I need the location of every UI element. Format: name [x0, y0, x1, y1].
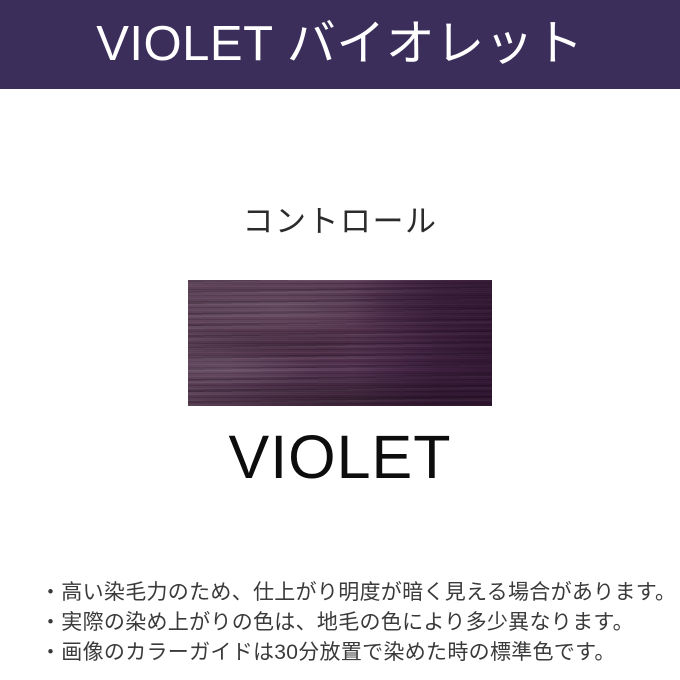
note-line: ・実際の染め上がりの色は、地毛の色により多少異なります。: [40, 608, 652, 638]
note-line: ・高い染毛力のため、仕上がり明度が暗く見える場合があります。: [40, 578, 652, 608]
product-name: VIOLET: [0, 425, 680, 489]
swatch-right-tint-layer: [352, 280, 492, 406]
violet-hair-color-swatch: [188, 280, 492, 406]
section-label-control: コントロール: [0, 205, 680, 239]
header-banner: VIOLET バイオレット: [0, 0, 680, 89]
footer-notes: ・高い染毛力のため、仕上がり明度が暗く見える場合があります。 ・実際の染め上がり…: [40, 578, 652, 668]
page-title: VIOLET バイオレット: [96, 20, 584, 69]
product-color-guide-page: VIOLET バイオレット コントロール VIOLET ・高い染毛力のため、仕上…: [0, 0, 680, 680]
note-line: ・画像のカラーガイドは30分放置で染めた時の標準色です。: [40, 638, 652, 668]
